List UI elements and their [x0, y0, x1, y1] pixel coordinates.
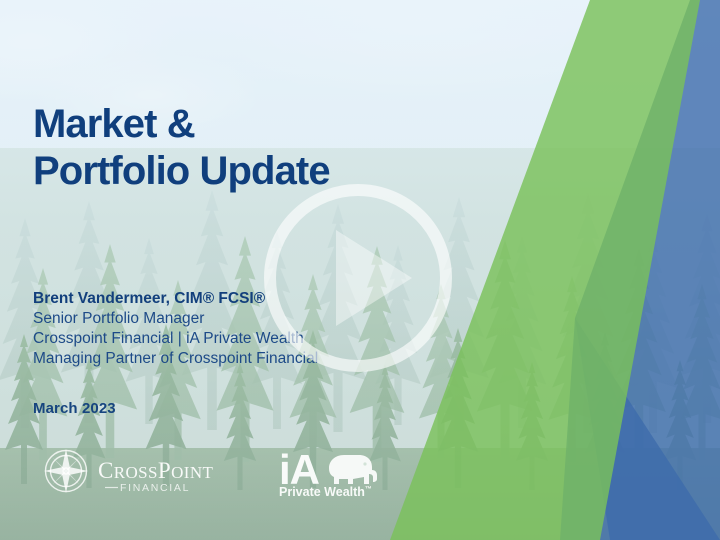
- play-button[interactable]: [262, 182, 454, 374]
- logo-lockup: CROSSPOINT FINANCIAL iA Private Wealth™: [41, 446, 387, 498]
- play-triangle-icon: [336, 230, 412, 326]
- crosspoint-wordmark: CROSSPOINT: [98, 458, 213, 483]
- ia-private-wealth-logo: iA Private Wealth™: [279, 446, 387, 498]
- elephant-icon: [329, 455, 377, 484]
- ia-tagline: Private Wealth™: [279, 485, 372, 498]
- ia-trademark: ™: [365, 486, 372, 493]
- crosspoint-tagline: FINANCIAL: [120, 482, 190, 494]
- crosspoint-financial-logo: CROSSPOINT FINANCIAL: [41, 446, 227, 498]
- title-line-1: Market &: [33, 102, 195, 146]
- page-title: Market & Portfolio Update: [33, 101, 330, 195]
- slide-date: March 2023: [33, 400, 116, 417]
- video-player-stage[interactable]: Market & Portfolio Update Brent Vanderme…: [0, 0, 720, 540]
